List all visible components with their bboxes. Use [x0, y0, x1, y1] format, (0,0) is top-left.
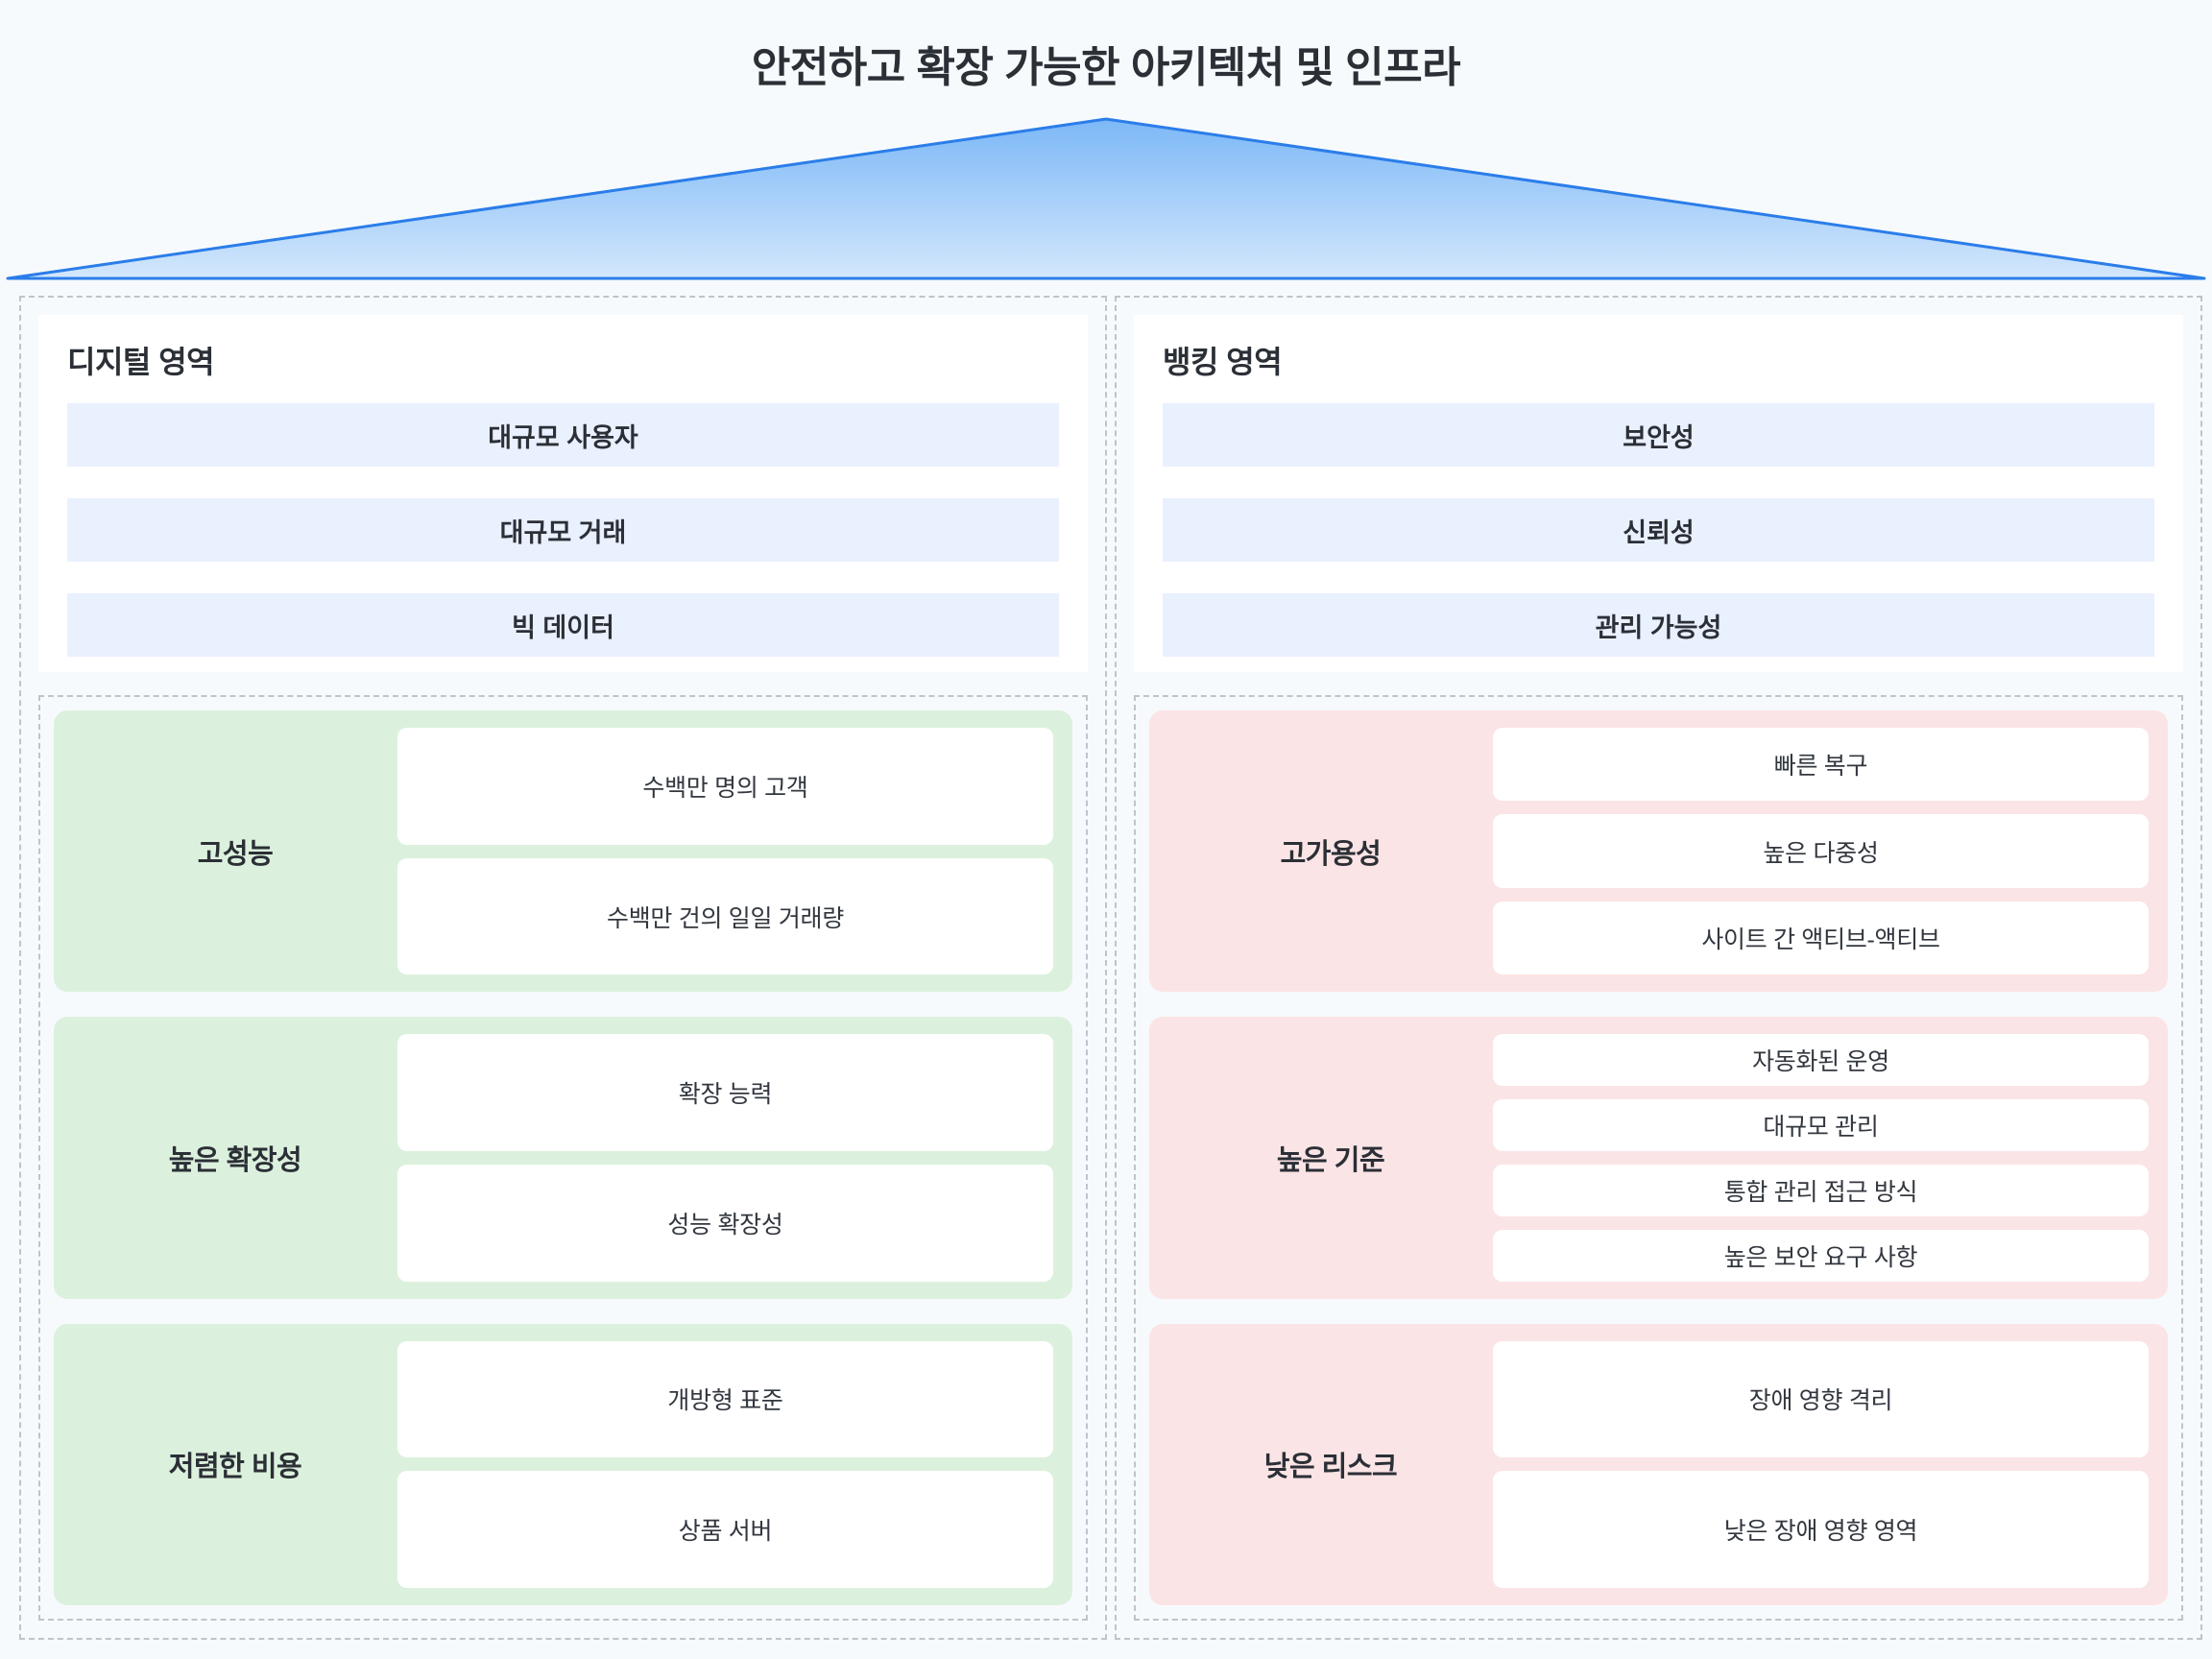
requirement-bar: 대규모 사용자	[67, 403, 1059, 467]
capability-item: 수백만 건의 일일 거래량	[397, 858, 1053, 975]
capability-item: 낮은 장애 영향 영역	[1493, 1471, 2149, 1588]
capability-item: 높은 보안 요구 사항	[1493, 1230, 2149, 1282]
capability-item: 빠른 복구	[1493, 728, 2149, 801]
capability-group: 저렴한 비용 개방형 표준 상품 서버	[54, 1324, 1072, 1605]
capability-group-label: 낮은 리스크	[1168, 1341, 1493, 1588]
capability-group: 낮은 리스크 장애 영향 격리 낮은 장애 영향 영역	[1149, 1324, 2168, 1605]
capability-item: 통합 관리 접근 방식	[1493, 1165, 2149, 1216]
capability-region-digital: 고성능 수백만 명의 고객 수백만 건의 일일 거래량 높은 확장성 확장 능력…	[38, 695, 1088, 1621]
capability-item: 높은 다중성	[1493, 814, 2149, 887]
capability-group-label: 높은 기준	[1168, 1034, 1493, 1281]
capability-region-banking: 고가용성 빠른 복구 높은 다중성 사이트 간 액티브-액티브 높은 기준 자동…	[1134, 695, 2183, 1621]
column-digital: 디지털 영역 대규모 사용자 대규모 거래 빅 데이터 고성능 수백만 명의 고…	[19, 296, 1107, 1640]
capability-group-label: 저렴한 비용	[73, 1341, 397, 1588]
capability-item: 수백만 명의 고객	[397, 728, 1053, 845]
capability-item-list: 확장 능력 성능 확장성	[397, 1034, 1053, 1281]
capability-item: 사이트 간 액티브-액티브	[1493, 902, 2149, 974]
panel-digital: 디지털 영역 대규모 사용자 대규모 거래 빅 데이터	[38, 315, 1088, 672]
capability-item-list: 장애 영향 격리 낮은 장애 영향 영역	[1493, 1341, 2149, 1588]
capability-item-list: 빠른 복구 높은 다중성 사이트 간 액티브-액티브	[1493, 728, 2149, 974]
capability-item-list: 개방형 표준 상품 서버	[397, 1341, 1053, 1588]
capability-item: 개방형 표준	[397, 1341, 1053, 1458]
capability-group: 높은 확장성 확장 능력 성능 확장성	[54, 1017, 1072, 1298]
capability-item: 상품 서버	[397, 1471, 1053, 1588]
capability-item: 확장 능력	[397, 1034, 1053, 1151]
column-banking: 뱅킹 영역 보안성 신뢰성 관리 가능성 고가용성 빠른 복구 높은 다중성 사…	[1115, 296, 2202, 1640]
capability-item-list: 수백만 명의 고객 수백만 건의 일일 거래량	[397, 728, 1053, 974]
capability-item: 장애 영향 격리	[1493, 1341, 2149, 1458]
capability-group: 고가용성 빠른 복구 높은 다중성 사이트 간 액티브-액티브	[1149, 710, 2168, 992]
capability-item: 자동화된 운영	[1493, 1034, 2149, 1086]
panel-banking: 뱅킹 영역 보안성 신뢰성 관리 가능성	[1134, 315, 2183, 672]
capability-item: 성능 확장성	[397, 1165, 1053, 1282]
requirement-bar: 빅 데이터	[67, 593, 1059, 657]
capability-group-label: 고성능	[73, 728, 397, 974]
capability-group-label: 높은 확장성	[73, 1034, 397, 1281]
panel-title-digital: 디지털 영역	[67, 338, 1059, 382]
requirement-bar: 관리 가능성	[1163, 593, 2154, 657]
requirement-bar: 보안성	[1163, 403, 2154, 467]
capability-item-list: 자동화된 운영 대규모 관리 통합 관리 접근 방식 높은 보안 요구 사항	[1493, 1034, 2149, 1281]
capability-group-label: 고가용성	[1168, 728, 1493, 974]
capability-group: 고성능 수백만 명의 고객 수백만 건의 일일 거래량	[54, 710, 1072, 992]
diagram-canvas: 안전하고 확장 가능한 아키텍처 및 인프라 디지털 영역 대규모 사용자 대규…	[0, 0, 2212, 1659]
capability-group: 높은 기준 자동화된 운영 대규모 관리 통합 관리 접근 방식 높은 보안 요…	[1149, 1017, 2168, 1298]
roof-triangle-icon	[0, 117, 2212, 282]
panel-title-banking: 뱅킹 영역	[1163, 338, 2154, 382]
capability-item: 대규모 관리	[1493, 1099, 2149, 1151]
requirement-bar: 대규모 거래	[67, 498, 1059, 562]
requirement-bar: 신뢰성	[1163, 498, 2154, 562]
page-title: 안전하고 확장 가능한 아키텍처 및 인프라	[0, 33, 2212, 94]
